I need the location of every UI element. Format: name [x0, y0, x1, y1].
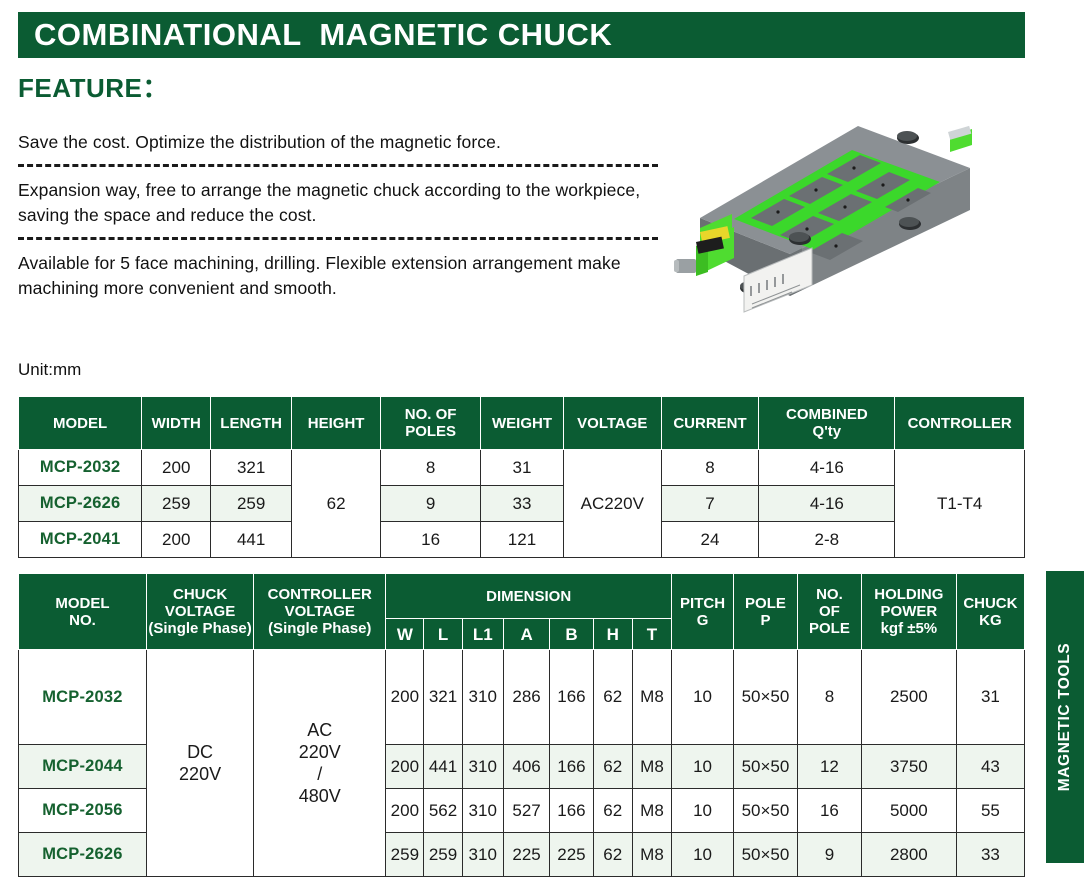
- cell-l1: 310: [462, 833, 503, 877]
- controller-voltage-l1: AC: [307, 720, 332, 740]
- th-dim-l: L: [424, 619, 462, 650]
- side-category-tab[interactable]: MAGNETIC TOOLS: [1046, 571, 1084, 863]
- spec-table-overview: MODEL WIDTH LENGTH HEIGHT NO. OF POLES W…: [18, 396, 1025, 558]
- cell-kg: 33: [956, 833, 1024, 877]
- th-dim-l1: L1: [462, 619, 503, 650]
- cell-current: 24: [661, 522, 759, 558]
- cell-l: 321: [424, 650, 462, 745]
- page-title-banner: COMBINATIONAL MAGNETIC CHUCK: [18, 12, 1025, 58]
- th-pole-p-l1: POLE: [745, 595, 786, 612]
- page-title: COMBINATIONAL MAGNETIC CHUCK: [18, 17, 612, 53]
- th-combined-l2: Q'ty: [813, 423, 842, 440]
- table-row: MCP-2032 200 321 62 8 31 AC220V 8 4-16 T…: [19, 450, 1025, 486]
- cell-h: 62: [593, 833, 632, 877]
- cell-current: 8: [661, 450, 759, 486]
- cell-weight: 33: [481, 486, 564, 522]
- cell-holding: 2800: [861, 833, 956, 877]
- th-dimension: DIMENSION: [386, 574, 672, 619]
- cell-combined: 2-8: [759, 522, 895, 558]
- cell-t: M8: [632, 833, 671, 877]
- cell-b: 166: [550, 650, 593, 745]
- cell-h: 62: [593, 789, 632, 833]
- th-chuck-voltage-l2: VOLTAGE: [165, 603, 235, 620]
- cell-a: 286: [503, 650, 549, 745]
- cell-height-merged: 62: [292, 450, 381, 558]
- cell-combined: 4-16: [759, 450, 895, 486]
- th-no-of-pole-l1: NO.: [816, 586, 843, 603]
- th-combined-l1: COMBINED: [786, 406, 868, 423]
- cell-l1: 310: [462, 650, 503, 745]
- feature-list: Save the cost. Optimize the distribution…: [18, 130, 658, 301]
- th-dim-h: H: [593, 619, 632, 650]
- th-model: MODEL: [19, 397, 142, 450]
- cell-pitch: 10: [672, 789, 734, 833]
- cell-pitch: 10: [672, 833, 734, 877]
- th-no-of-pole-l2: OF: [819, 603, 840, 620]
- cell-controller-voltage-merged: AC 220V / 480V: [254, 650, 386, 877]
- cell-poles: 16: [381, 522, 481, 558]
- cell-width: 200: [142, 450, 211, 486]
- th-holding-power-l2: POWER: [881, 603, 938, 620]
- th-pitch-g-l1: PITCH: [680, 595, 725, 612]
- feature-divider-1: [18, 164, 658, 167]
- cell-model: MCP-2044: [19, 745, 147, 789]
- cell-width: 200: [142, 522, 211, 558]
- cell-weight: 121: [481, 522, 564, 558]
- th-model-no: MODEL NO.: [19, 574, 147, 650]
- th-controller-voltage-l2: VOLTAGE: [285, 603, 355, 620]
- cell-model: MCP-2041: [19, 522, 142, 558]
- cell-model: MCP-2626: [19, 833, 147, 877]
- cell-w: 259: [386, 833, 424, 877]
- cell-t: M8: [632, 789, 671, 833]
- cell-pole: 50×50: [734, 789, 798, 833]
- cell-l: 259: [424, 833, 462, 877]
- cell-w: 200: [386, 745, 424, 789]
- th-model-no-l1: MODEL: [55, 595, 109, 612]
- th-chuck-kg-l1: CHUCK: [963, 595, 1017, 612]
- cell-pitch: 10: [672, 745, 734, 789]
- controller-voltage-l2: 220V: [299, 742, 341, 762]
- cell-pole: 50×50: [734, 650, 798, 745]
- cell-kg: 55: [956, 789, 1024, 833]
- table-row: MCP-2626 259 259 9 33 7 4-16: [19, 486, 1025, 522]
- cell-a: 527: [503, 789, 549, 833]
- th-pitch-g: PITCH G: [672, 574, 734, 650]
- th-controller: CONTROLLER: [895, 397, 1025, 450]
- cell-l: 562: [424, 789, 462, 833]
- cell-b: 166: [550, 745, 593, 789]
- cell-h: 62: [593, 745, 632, 789]
- cell-weight: 31: [481, 450, 564, 486]
- th-holding-power: HOLDING POWER kgf ±5%: [861, 574, 956, 650]
- cell-w: 200: [386, 650, 424, 745]
- feature-item-1: Save the cost. Optimize the distribution…: [18, 130, 658, 155]
- cell-poles: 9: [381, 486, 481, 522]
- feature-heading: FEATURE：: [18, 68, 169, 105]
- catalog-page: COMBINATIONAL MAGNETIC CHUCK FEATURE： Sa…: [0, 0, 1084, 883]
- cell-holding: 5000: [861, 789, 956, 833]
- cell-l1: 310: [462, 745, 503, 789]
- th-chuck-voltage: CHUCK VOLTAGE (Single Phase): [146, 574, 253, 650]
- cell-w: 200: [386, 789, 424, 833]
- cell-holding: 2500: [861, 650, 956, 745]
- th-no-of-pole: NO. OF POLE: [797, 574, 861, 650]
- cell-a: 406: [503, 745, 549, 789]
- table-row: MCP-2032 DC 220V AC 220V / 480V 200 321 …: [19, 650, 1025, 745]
- cell-controller-merged: T1-T4: [895, 450, 1025, 558]
- th-dim-b: B: [550, 619, 593, 650]
- th-pole-p-l2: P: [760, 612, 770, 629]
- th-controller-voltage: CONTROLLER VOLTAGE (Single Phase): [254, 574, 386, 650]
- cell-model: MCP-2032: [19, 650, 147, 745]
- th-pitch-g-l2: G: [697, 612, 709, 629]
- controller-voltage-l4: 480V: [299, 786, 341, 806]
- chuck-voltage-l1: DC: [187, 742, 213, 762]
- th-holding-power-l3: kgf ±5%: [881, 620, 938, 637]
- feature-item-2: Expansion way, free to arrange the magne…: [18, 178, 658, 228]
- th-model-no-l2: NO.: [69, 612, 96, 629]
- cell-l1: 310: [462, 789, 503, 833]
- cell-no-of-pole: 9: [797, 833, 861, 877]
- th-no-of-poles: NO. OF POLES: [381, 397, 481, 450]
- th-width: WIDTH: [142, 397, 211, 450]
- cell-current: 7: [661, 486, 759, 522]
- th-controller-voltage-l3: (Single Phase): [268, 620, 371, 637]
- cell-no-of-pole: 16: [797, 789, 861, 833]
- th-dim-a: A: [503, 619, 549, 650]
- cell-l: 441: [424, 745, 462, 789]
- cell-length: 441: [211, 522, 292, 558]
- th-no-of-pole-l3: POLE: [809, 620, 850, 637]
- cell-pole: 50×50: [734, 833, 798, 877]
- th-chuck-kg: CHUCK KG: [956, 574, 1024, 650]
- cell-pitch: 10: [672, 650, 734, 745]
- magnetic-chuck-illustration: [672, 96, 1024, 348]
- th-no-of-poles-l2: POLES: [405, 423, 456, 440]
- controller-voltage-l3: /: [317, 764, 322, 784]
- table2-header-row-1: MODEL NO. CHUCK VOLTAGE (Single Phase) C…: [19, 574, 1025, 619]
- chuck-voltage-l2: 220V: [179, 764, 221, 784]
- cell-pole: 50×50: [734, 745, 798, 789]
- th-combined-qty: COMBINED Q'ty: [759, 397, 895, 450]
- cell-holding: 3750: [861, 745, 956, 789]
- table1-header-row: MODEL WIDTH LENGTH HEIGHT NO. OF POLES W…: [19, 397, 1025, 450]
- product-photo: [672, 96, 1024, 348]
- cell-b: 225: [550, 833, 593, 877]
- th-controller-voltage-l1: CONTROLLER: [268, 586, 372, 603]
- cell-b: 166: [550, 789, 593, 833]
- th-weight: WEIGHT: [481, 397, 564, 450]
- feature-divider-2: [18, 237, 658, 240]
- cell-model: MCP-2032: [19, 450, 142, 486]
- th-holding-power-l1: HOLDING: [874, 586, 943, 603]
- cell-kg: 43: [956, 745, 1024, 789]
- th-no-of-poles-l1: NO. OF: [405, 406, 457, 423]
- unit-label: Unit:mm: [18, 360, 81, 380]
- th-chuck-voltage-l3: (Single Phase): [148, 620, 251, 637]
- cell-width: 259: [142, 486, 211, 522]
- table-row: MCP-2041 200 441 16 121 24 2-8: [19, 522, 1025, 558]
- th-current: CURRENT: [661, 397, 759, 450]
- cell-t: M8: [632, 650, 671, 745]
- cell-t: M8: [632, 745, 671, 789]
- cell-combined: 4-16: [759, 486, 895, 522]
- spec-table-dimensions: MODEL NO. CHUCK VOLTAGE (Single Phase) C…: [18, 573, 1025, 877]
- cell-length: 321: [211, 450, 292, 486]
- th-pole-p: POLE P: [734, 574, 798, 650]
- cell-h: 62: [593, 650, 632, 745]
- cell-no-of-pole: 12: [797, 745, 861, 789]
- th-dim-w: W: [386, 619, 424, 650]
- th-chuck-voltage-l1: CHUCK: [173, 586, 227, 603]
- cell-model: MCP-2626: [19, 486, 142, 522]
- cell-length: 259: [211, 486, 292, 522]
- th-chuck-kg-l2: KG: [979, 612, 1002, 629]
- th-dim-t: T: [632, 619, 671, 650]
- cell-kg: 31: [956, 650, 1024, 745]
- cell-voltage-merged: AC220V: [563, 450, 661, 558]
- cell-a: 225: [503, 833, 549, 877]
- cell-chuck-voltage-merged: DC 220V: [146, 650, 253, 877]
- side-category-tab-label: MAGNETIC TOOLS: [1046, 571, 1084, 863]
- cell-model: MCP-2056: [19, 789, 147, 833]
- cell-poles: 8: [381, 450, 481, 486]
- th-height: HEIGHT: [292, 397, 381, 450]
- cell-no-of-pole: 8: [797, 650, 861, 745]
- feature-item-3: Available for 5 face machining, drilling…: [18, 251, 658, 301]
- th-voltage: VOLTAGE: [563, 397, 661, 450]
- th-length: LENGTH: [211, 397, 292, 450]
